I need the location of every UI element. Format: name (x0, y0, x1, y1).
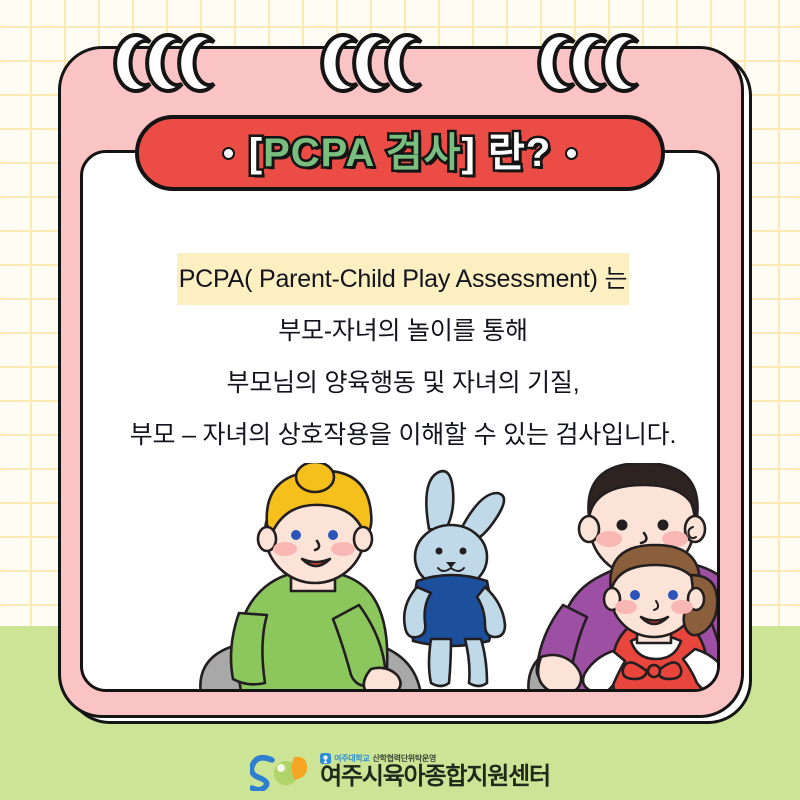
footer-branding: 여주대학교 산학협력단위탁운영 여주시육아종합지원센터 (0, 742, 800, 800)
description-line-2: 부모-자녀의 놀이를 통해 (83, 305, 720, 357)
description-line-3: 부모님의 양육행동 및 자녀의 기질, (83, 357, 720, 409)
title-text: [PCPA 검사] 란? (249, 133, 551, 173)
content-panel: PCPA( Parent-Child Play Assessment) 는 부모… (80, 150, 720, 692)
title-highlight: PCPA 검사 (263, 131, 461, 175)
footer-text-group: 여주대학교 산학협력단위탁운영 여주시육아종합지원센터 (320, 753, 550, 789)
description-line-4: 부모 – 자녀의 상호작용을 이해할 수 있는 검사입니다. (83, 409, 720, 461)
center-name: 여주시육아종합지원센터 (320, 765, 550, 789)
spiral-binding-rings (0, 0, 800, 120)
poster-canvas: PCPA( Parent-Child Play Assessment) 는 부모… (0, 0, 800, 800)
badge-dot-right-icon (565, 147, 578, 160)
title-bracket-open: [ (249, 131, 263, 175)
badge-dot-left-icon (222, 147, 235, 160)
center-logo-icon (250, 751, 312, 791)
title-suffix: 란? (476, 131, 551, 175)
description-line-1: PCPA( Parent-Child Play Assessment) 는 (177, 253, 630, 305)
title-badge: [PCPA 검사] 란? (135, 115, 665, 191)
description-line-1-wrap: PCPA( Parent-Child Play Assessment) 는 (83, 253, 720, 305)
description-text-block: PCPA( Parent-Child Play Assessment) 는 부모… (83, 253, 720, 461)
title-bracket-close: ] (462, 131, 476, 175)
family-play-illustration (163, 463, 720, 692)
